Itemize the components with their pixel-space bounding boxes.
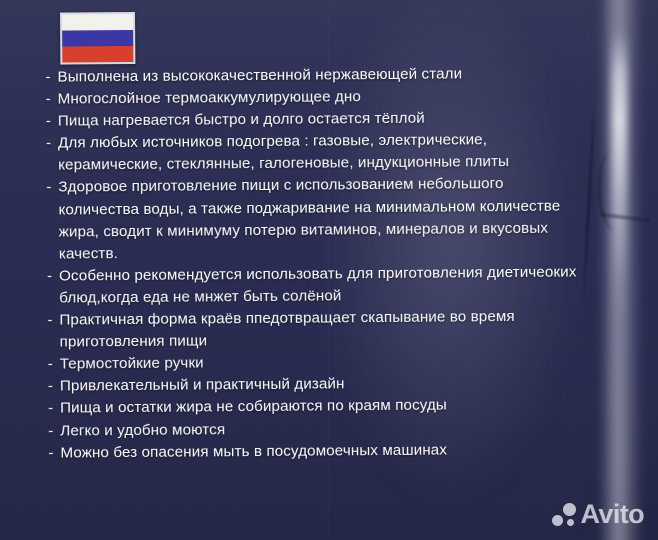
avito-dot-large xyxy=(563,503,576,516)
avito-dot-small xyxy=(567,519,574,526)
avito-wordmark: Avito xyxy=(581,501,645,528)
avito-watermark: Avito xyxy=(552,501,645,528)
avito-dot-medium xyxy=(552,515,563,526)
avito-dots-logo-icon xyxy=(552,503,576,527)
photo-grain xyxy=(0,0,658,540)
product-packaging-photo: -Выполнена из высококачественной нержаве… xyxy=(0,0,658,540)
